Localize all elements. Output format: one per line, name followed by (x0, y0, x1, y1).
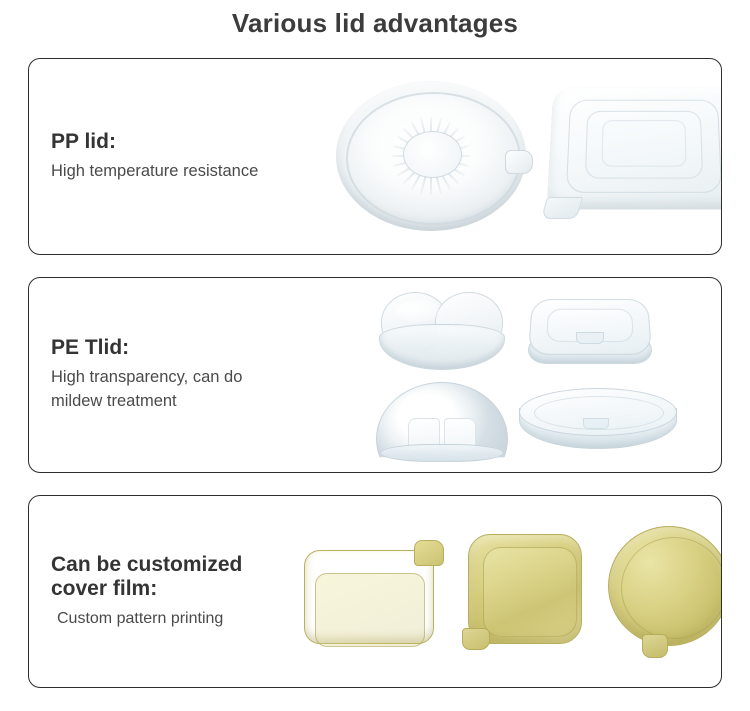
pp-rect-body (546, 87, 722, 209)
panel-pp-lid-text: PP lid: High temperature resistance (51, 129, 311, 183)
panel-cover-film-heading-line2: cover film: (51, 577, 311, 601)
gold-square-pull-tab (462, 628, 490, 650)
page-title: Various lid advantages (0, 8, 750, 39)
pe-oval-notch (583, 418, 609, 429)
panel-pp-lid-gallery (314, 59, 721, 254)
round-ribbed-pp-lid-image (336, 81, 526, 231)
panel-cover-film-text: Can be customized cover film: Custom pat… (51, 553, 311, 631)
gold-round-pull-tab (642, 634, 668, 658)
dome-pe-lid-image (376, 382, 506, 456)
panel-pe-tlid-description-line1: High transparency, can do (51, 366, 311, 390)
gold-square-inner-lip (483, 547, 577, 637)
gold-round-body (608, 526, 722, 646)
pe-heart-highlight (395, 300, 439, 322)
panel-pe-tlid-description-line2: mildew treatment (51, 390, 311, 414)
panel-cover-film-gallery (314, 496, 721, 687)
pp-round-pull-tab (505, 150, 533, 174)
pe-heart-skirt (379, 324, 505, 370)
panel-cover-film-heading: Can be customized cover film: (51, 553, 311, 602)
pe-square-notch (576, 332, 604, 344)
gold-rect-inner-lip (315, 573, 425, 647)
panel-cover-film-description: Custom pattern printing (51, 607, 311, 630)
infographic-page: Various lid advantages PP lid: High temp… (0, 0, 750, 711)
panel-pp-lid-description: High temperature resistance (51, 160, 311, 184)
rectangular-gold-foil-lid-image (304, 538, 442, 646)
panel-pp-lid-heading: PP lid: (51, 129, 311, 153)
panel-pe-tlid: PE Tlid: High transparency, can do milde… (28, 277, 722, 473)
gold-round-inner-lip (621, 537, 722, 639)
round-gold-foil-lid-image (604, 524, 722, 656)
panel-pe-tlid-text: PE Tlid: High transparency, can do milde… (51, 336, 311, 414)
pp-rect-corner-tab (541, 197, 583, 219)
panel-pe-tlid-gallery (314, 278, 721, 472)
square-pe-lid-image (524, 292, 654, 370)
rectangular-pp-lid-image (544, 73, 722, 225)
pe-dome-lip (380, 444, 504, 462)
pp-round-center-hub (403, 131, 462, 178)
oval-pe-lid-image (519, 388, 675, 454)
panel-cover-film: Can be customized cover film: Custom pat… (28, 495, 722, 688)
panel-pe-tlid-description: High transparency, can do mildew treatme… (51, 366, 311, 414)
heart-shaped-pe-lid-image (379, 290, 504, 372)
panel-cover-film-heading-line1: Can be customized (51, 553, 311, 577)
pe-square-body (528, 299, 652, 355)
gold-rect-pull-tab (414, 540, 444, 566)
panel-pp-lid: PP lid: High temperature resistance (28, 58, 722, 255)
square-gold-foil-lid-image (462, 530, 590, 652)
pp-rect-ring-inner (601, 120, 686, 166)
panel-pe-tlid-heading: PE Tlid: (51, 336, 311, 360)
